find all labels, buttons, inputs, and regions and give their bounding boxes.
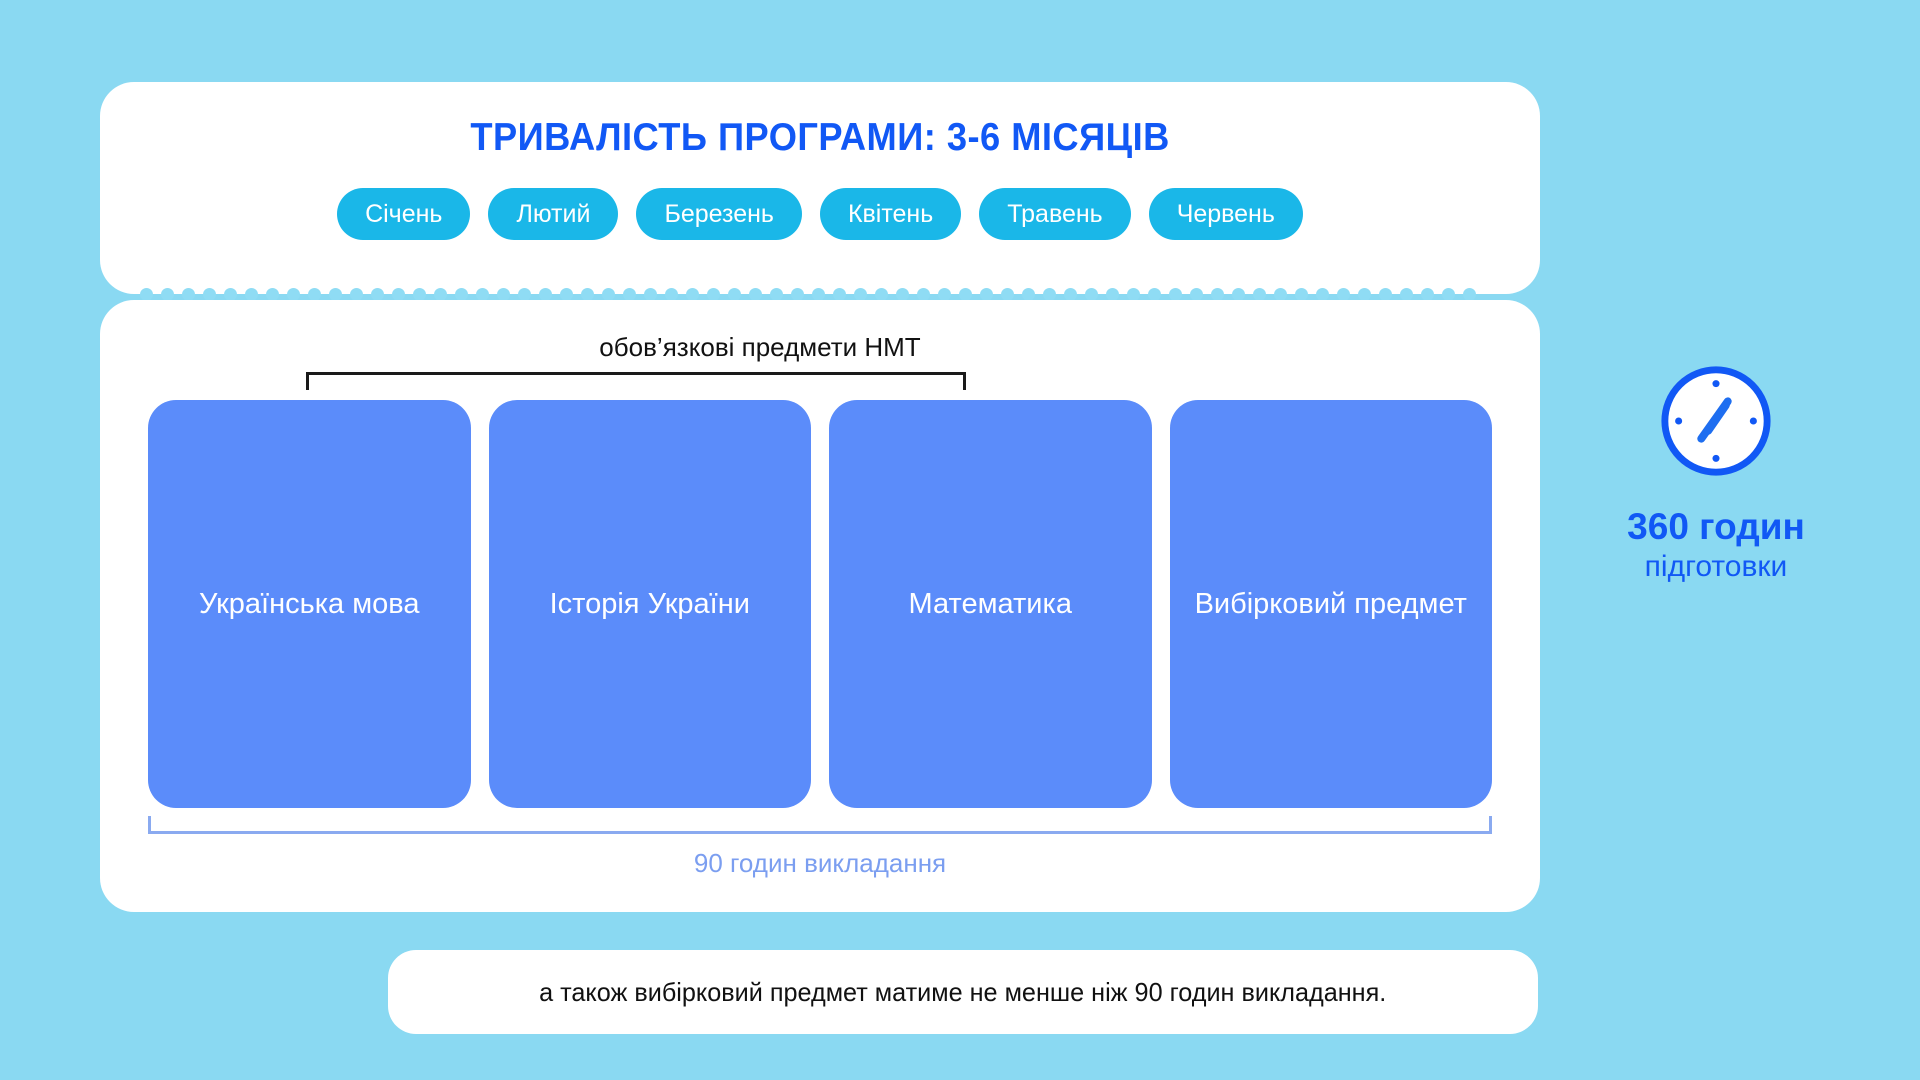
month-pill-1[interactable]: Січень xyxy=(337,188,470,240)
divider-dot xyxy=(1022,288,1035,301)
subjects-panel: обов’язкові предмети НМТ Українська мова… xyxy=(100,300,1540,912)
divider-dot xyxy=(434,288,447,301)
mandatory-subjects-label: обов’язкові предмети НМТ xyxy=(430,332,1090,363)
divider-dot xyxy=(476,288,489,301)
divider-dot xyxy=(1043,288,1056,301)
divider-dot xyxy=(1127,288,1140,301)
divider-dot xyxy=(497,288,510,301)
divider-dot xyxy=(224,288,237,301)
teaching-hours-label: 90 годин викладання xyxy=(148,848,1492,879)
footnote-text: а також вибірковий предмет матиме не мен… xyxy=(539,977,1386,1008)
divider-dot xyxy=(1379,288,1392,301)
divider-dot xyxy=(1232,288,1245,301)
divider-dot xyxy=(413,288,426,301)
teaching-hours-bracket xyxy=(148,816,1492,834)
preparation-hours-caption: підготовки xyxy=(1645,550,1788,584)
divider-dot xyxy=(959,288,972,301)
divider-dot xyxy=(770,288,783,301)
divider-dot xyxy=(1190,288,1203,301)
month-pill-2[interactable]: Лютий xyxy=(488,188,618,240)
divider-dot xyxy=(1463,288,1476,301)
divider-dot xyxy=(245,288,258,301)
divider-dot xyxy=(140,288,153,301)
subject-card-history-of-ukraine[interactable]: Історія України xyxy=(489,400,812,808)
divider-dot xyxy=(938,288,951,301)
divider-dot xyxy=(455,288,468,301)
subject-card-elective[interactable]: Вибірковий предмет xyxy=(1170,400,1493,808)
dotted-divider xyxy=(140,287,1500,301)
divider-dot xyxy=(791,288,804,301)
program-duration-panel: ТРИВАЛІСТЬ ПРОГРАМИ: 3-6 МІСЯЦІВ Січень … xyxy=(100,82,1540,294)
subject-card-mathematics[interactable]: Математика xyxy=(829,400,1152,808)
divider-dot xyxy=(581,288,594,301)
divider-dot xyxy=(518,288,531,301)
month-pill-4[interactable]: Квітень xyxy=(820,188,961,240)
divider-dot xyxy=(1106,288,1119,301)
divider-dot xyxy=(1337,288,1350,301)
months-row: Січень Лютий Березень Квітень Травень Че… xyxy=(337,188,1303,240)
divider-dot xyxy=(623,288,636,301)
divider-dot xyxy=(560,288,573,301)
month-pill-3[interactable]: Березень xyxy=(636,188,802,240)
preparation-hours-block: 360 годин підготовки xyxy=(1590,362,1842,584)
divider-dot xyxy=(266,288,279,301)
divider-dot xyxy=(1316,288,1329,301)
divider-dot xyxy=(644,288,657,301)
subject-cards-row: Українська мова Історія України Математи… xyxy=(148,400,1492,808)
divider-dot xyxy=(203,288,216,301)
divider-dot xyxy=(875,288,888,301)
divider-dot xyxy=(182,288,195,301)
divider-dot xyxy=(1295,288,1308,301)
divider-dot xyxy=(1421,288,1434,301)
divider-dot xyxy=(665,288,678,301)
divider-dot xyxy=(833,288,846,301)
mandatory-subjects-bracket xyxy=(306,372,966,390)
divider-dot xyxy=(749,288,762,301)
divider-dot xyxy=(1400,288,1413,301)
clock-icon xyxy=(1657,362,1775,480)
divider-dot xyxy=(896,288,909,301)
divider-dot xyxy=(392,288,405,301)
divider-dot xyxy=(1169,288,1182,301)
subject-card-ukrainian-language[interactable]: Українська мова xyxy=(148,400,471,808)
divider-dot xyxy=(980,288,993,301)
divider-dot xyxy=(539,288,552,301)
divider-dot xyxy=(728,288,741,301)
divider-dot xyxy=(1358,288,1371,301)
divider-dot xyxy=(1442,288,1455,301)
divider-dot xyxy=(1064,288,1077,301)
divider-dot xyxy=(686,288,699,301)
divider-dot xyxy=(329,288,342,301)
divider-dot xyxy=(1253,288,1266,301)
divider-dot xyxy=(287,288,300,301)
divider-dot xyxy=(308,288,321,301)
divider-dot xyxy=(1274,288,1287,301)
divider-dot xyxy=(602,288,615,301)
divider-dot xyxy=(812,288,825,301)
month-pill-6[interactable]: Червень xyxy=(1149,188,1303,240)
divider-dot xyxy=(707,288,720,301)
page-title: ТРИВАЛІСТЬ ПРОГРАМИ: 3-6 МІСЯЦІВ xyxy=(470,116,1169,160)
divider-dot xyxy=(371,288,384,301)
divider-dot xyxy=(854,288,867,301)
preparation-hours-value: 360 годин xyxy=(1627,506,1805,548)
month-pill-5[interactable]: Травень xyxy=(979,188,1130,240)
divider-dot xyxy=(350,288,363,301)
divider-dot xyxy=(1085,288,1098,301)
footnote-panel: а також вибірковий предмет матиме не мен… xyxy=(388,950,1538,1034)
divider-dot xyxy=(161,288,174,301)
divider-dot xyxy=(1148,288,1161,301)
divider-dot xyxy=(1211,288,1224,301)
divider-dot xyxy=(1001,288,1014,301)
divider-dot xyxy=(917,288,930,301)
